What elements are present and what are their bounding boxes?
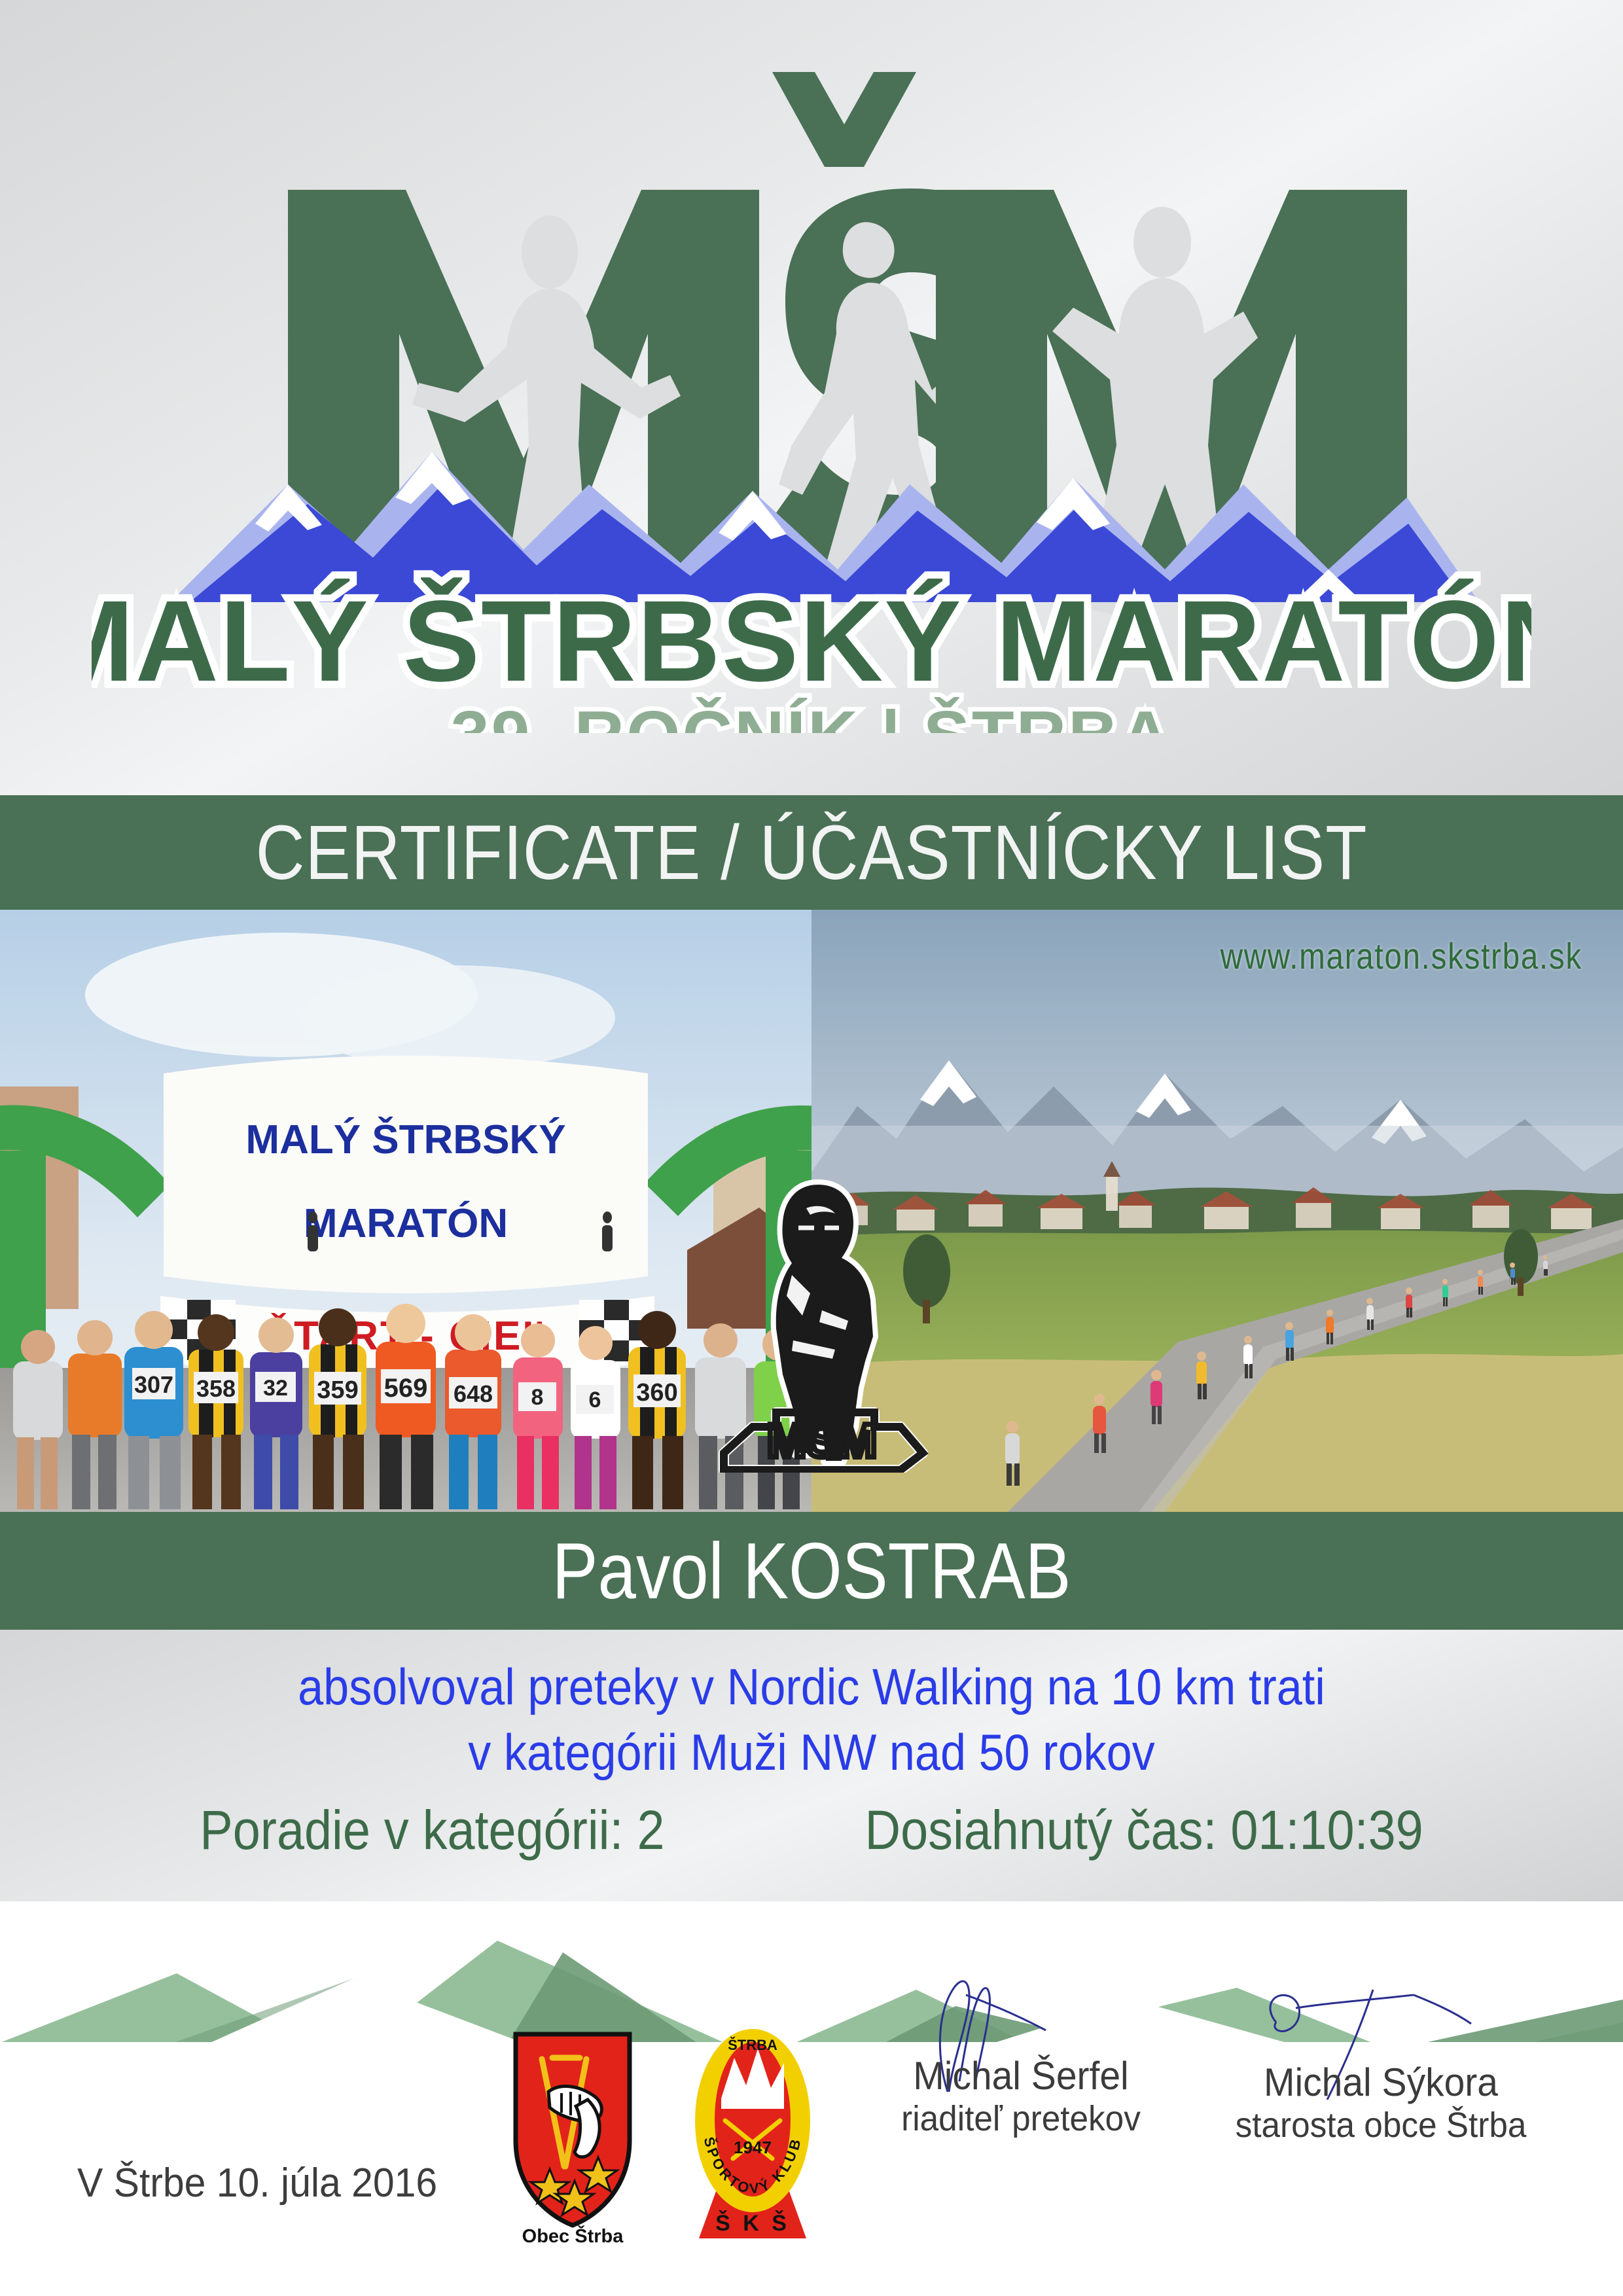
category-rank-value: 2	[637, 1799, 664, 1861]
mayor-name: Michal Sýkora	[1207, 2062, 1555, 2104]
logo-subtitle: 39. ROČNÍK | ŠTRBA	[451, 697, 1173, 733]
certificate-page: 31km 10km	[0, 0, 1623, 2296]
msm-watermark: MŠM	[713, 1165, 929, 1473]
bib-number: 358	[196, 1375, 236, 1402]
mayor-role: starosta obce Štrba	[1207, 2104, 1555, 2147]
photo-start-line: MALÝ ŠTRBSKÝ MARATÓN	[0, 910, 811, 1512]
certificate-banner: CERTIFICATE / ÚČASTNÍCKY LIST	[0, 795, 1623, 910]
finish-time-value: 01:10:39	[1230, 1799, 1423, 1861]
bib-number: 359	[317, 1376, 358, 1404]
description-line-2: v kategórii Muži NW nad 50 rokov	[81, 1720, 1542, 1785]
bib-number: 569	[384, 1374, 428, 1403]
director-name: Michal Šerfel	[847, 2055, 1195, 2098]
arch-text-line2: MARATÓN	[304, 1201, 508, 1246]
place-and-date: V Štrbe 10. júla 2016	[77, 2160, 437, 2206]
club-initials: Š K Š	[715, 2210, 790, 2236]
bib-number: 6	[589, 1388, 601, 1412]
club-top-text: ŠTRBA	[728, 2037, 777, 2053]
bib-number: 360	[636, 1379, 677, 1407]
result-row: Poradie v kategórii: 2 Dosiahnutý čas: 0…	[81, 1799, 1542, 1862]
category-rank-label: Poradie v kategórii:	[200, 1799, 623, 1861]
achievement-description: absolvoval preteky v Nordic Walking na 1…	[81, 1655, 1542, 1785]
website-url: www.maraton.skstrba.sk	[1221, 935, 1582, 977]
participant-name: Pavol KOSTRAB	[114, 1512, 1510, 1630]
category-rank: Poradie v kategórii: 2	[200, 1799, 664, 1862]
msm-watermark-text: MŠM	[767, 1414, 877, 1467]
event-logo: 31km 10km	[0, 26, 1623, 733]
certificate-title: CERTIFICATE / ÚČASTNÍCKY LIST	[98, 795, 1525, 910]
director-role: riaditeľ pretekov	[847, 2098, 1195, 2140]
bib-number: 32	[263, 1376, 288, 1401]
bib-number: 648	[454, 1380, 493, 1407]
bib-number: 307	[134, 1371, 173, 1398]
photo-course-panorama: www.maraton.skstrba.sk	[811, 910, 1623, 1512]
arch-text-line1: MALÝ ŠTRBSKÝ	[245, 1117, 565, 1162]
obec-strba-crest: Obec Štrba	[504, 2029, 641, 2245]
club-year: 1947	[734, 2138, 772, 2157]
description-line-1: absolvoval preteky v Nordic Walking na 1…	[81, 1655, 1542, 1720]
body-background: absolvoval preteky v Nordic Walking na 1…	[0, 1630, 1623, 1911]
photo-strip: MALÝ ŠTRBSKÝ MARATÓN	[0, 910, 1623, 1512]
finish-time: Dosiahnutý čas: 01:10:39	[865, 1799, 1423, 1862]
logo-title: MALÝ ŠTRBSKÝ MARATÓN	[92, 577, 1531, 706]
signature-block-director: Michal Šerfel riaditeľ pretekov	[838, 2055, 1204, 2140]
bib-number: 8	[531, 1385, 544, 1410]
crest-caption: Obec Štrba	[522, 2225, 624, 2245]
finish-time-label: Dosiahnutý čas:	[865, 1799, 1217, 1861]
signature-block-mayor: Michal Sýkora starosta obce Štrba	[1198, 2062, 1564, 2147]
participant-banner: Pavol KOSTRAB	[0, 1512, 1623, 1630]
msm-logo-graphic: 31km 10km	[92, 26, 1531, 733]
sports-club-logo: 1947 ŠTRBA ŠPORTOVÝ KLUB Š K Š	[681, 2022, 825, 2245]
